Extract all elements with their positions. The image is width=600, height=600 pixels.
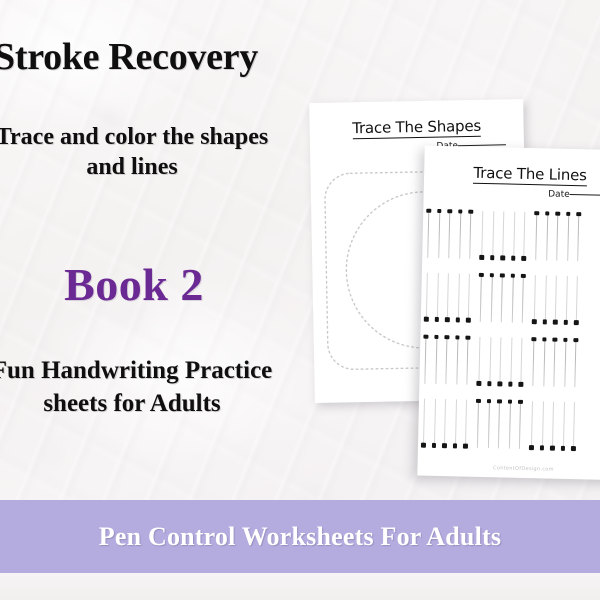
- trace-line: [508, 400, 510, 448]
- lines-tracing-area: [418, 205, 600, 465]
- trace-start-dot: [455, 335, 459, 339]
- trace-start-dot: [563, 337, 567, 341]
- trace-start-dot: [550, 446, 554, 450]
- trace-line: [445, 336, 447, 384]
- trace-start-dot: [519, 382, 523, 386]
- trace-line: [531, 401, 533, 449]
- trace-start-dot: [543, 320, 547, 324]
- worksheet-title: Trace The Lines: [473, 164, 587, 187]
- poster-description: Fun Handwriting Practice sheets for Adul…: [0, 355, 282, 420]
- trace-start-dot: [421, 443, 425, 447]
- trace-line: [469, 210, 471, 258]
- trace-start-dot: [553, 320, 557, 324]
- trace-line: [487, 400, 489, 448]
- line-trace-row: [418, 394, 600, 456]
- trace-line: [480, 273, 482, 321]
- trace-line: [454, 399, 456, 447]
- trace-start-dot: [477, 381, 481, 385]
- trace-line: [519, 400, 521, 448]
- trace-start-dot: [437, 208, 441, 212]
- trace-line: [541, 401, 543, 449]
- trace-start-dot: [521, 273, 525, 277]
- trace-start-dot: [445, 317, 449, 321]
- line-trace-row: [421, 268, 600, 330]
- worksheet-title: Trace The Shapes: [352, 117, 481, 139]
- trace-start-dot: [532, 319, 536, 323]
- trace-start-dot: [434, 334, 438, 338]
- trace-start-dot: [501, 256, 505, 260]
- trace-line: [456, 336, 458, 384]
- trace-line: [556, 212, 558, 260]
- trace-line: [555, 275, 557, 323]
- trace-line: [468, 273, 470, 321]
- trace-line: [567, 212, 569, 260]
- trace-start-dot: [469, 209, 473, 213]
- line-trace-group: [477, 399, 521, 448]
- trace-start-dot: [442, 443, 446, 447]
- trace-line: [448, 210, 450, 258]
- trace-start-dot: [424, 334, 428, 338]
- trace-start-dot: [571, 446, 575, 450]
- trace-line: [433, 398, 435, 446]
- line-trace-group: [480, 273, 524, 322]
- trace-line: [426, 272, 428, 320]
- line-trace-group: [481, 210, 525, 259]
- worksheet-trace-the-lines: Trace The Lines Date ContentOfDesign.com: [417, 146, 600, 481]
- line-trace-group: [535, 212, 579, 261]
- trace-line: [502, 211, 504, 259]
- trace-line: [489, 337, 491, 385]
- trace-line: [435, 335, 437, 383]
- poster-text-column: Stroke Recovery Trace and color the shap…: [0, 0, 300, 500]
- banner-bottom-strip: [0, 573, 600, 600]
- trace-start-dot: [490, 255, 494, 259]
- trace-line: [498, 400, 500, 448]
- trace-start-dot: [487, 381, 491, 385]
- trace-line: [564, 338, 566, 386]
- trace-start-dot: [542, 337, 546, 341]
- trace-line: [553, 338, 555, 386]
- trace-line: [447, 273, 449, 321]
- trace-line: [532, 338, 534, 386]
- trace-line: [492, 211, 494, 259]
- trace-start-dot: [435, 317, 439, 321]
- trace-start-dot: [564, 320, 568, 324]
- trace-start-dot: [432, 443, 436, 447]
- trace-start-dot: [535, 211, 539, 215]
- trace-start-dot: [480, 255, 484, 259]
- trace-start-dot: [508, 382, 512, 386]
- trace-start-dot: [511, 256, 515, 260]
- trace-start-dot: [566, 211, 570, 215]
- date-label: Date: [548, 189, 570, 199]
- trace-start-dot: [540, 446, 544, 450]
- trace-line: [490, 274, 492, 322]
- trace-line: [466, 336, 468, 384]
- trace-start-dot: [427, 208, 431, 212]
- trace-line: [436, 272, 438, 320]
- trace-start-dot: [511, 273, 515, 277]
- trace-line: [499, 337, 501, 385]
- banner-label: Pen Control Worksheets For Adults: [99, 522, 501, 552]
- trace-line: [552, 401, 554, 449]
- lines-date-field: Date: [424, 187, 600, 202]
- trace-start-dot: [522, 256, 526, 260]
- trace-start-dot: [448, 209, 452, 213]
- trace-start-dot: [556, 211, 560, 215]
- trace-start-dot: [574, 338, 578, 342]
- line-trace-group: [531, 401, 575, 450]
- trace-line: [520, 337, 522, 385]
- trace-start-dot: [458, 209, 462, 213]
- trace-start-dot: [466, 318, 470, 322]
- trace-start-dot: [456, 318, 460, 322]
- trace-line: [478, 336, 480, 384]
- book-number-label: Book 2: [0, 258, 284, 311]
- trace-line: [534, 275, 536, 323]
- trace-start-dot: [487, 399, 491, 403]
- trace-start-dot: [553, 337, 557, 341]
- trace-line: [577, 213, 579, 261]
- line-trace-group: [478, 336, 522, 385]
- trace-line: [424, 335, 426, 383]
- line-trace-group: [424, 335, 468, 384]
- line-trace-group: [427, 209, 471, 258]
- trace-start-dot: [508, 399, 512, 403]
- trace-line: [481, 210, 483, 258]
- trace-start-dot: [577, 212, 581, 216]
- trace-line: [513, 211, 515, 259]
- trace-start-dot: [479, 272, 483, 276]
- trace-line: [546, 212, 548, 260]
- trace-line: [511, 274, 513, 322]
- line-trace-group: [532, 338, 576, 387]
- trace-line: [576, 276, 578, 324]
- trace-start-dot: [463, 444, 467, 448]
- lines-title-wrap: Trace The Lines: [424, 146, 600, 188]
- trace-line: [562, 401, 564, 449]
- trace-line: [501, 274, 503, 322]
- line-trace-row: [419, 331, 600, 393]
- trace-start-dot: [498, 382, 502, 386]
- trace-start-dot: [476, 398, 480, 402]
- trace-line: [543, 338, 545, 386]
- trace-line: [522, 274, 524, 322]
- bottom-banner: Pen Control Worksheets For Adults: [0, 500, 600, 573]
- trace-start-dot: [445, 335, 449, 339]
- trace-start-dot: [490, 273, 494, 277]
- trace-start-dot: [518, 399, 522, 403]
- trace-line: [423, 398, 425, 446]
- trace-start-dot: [466, 335, 470, 339]
- line-trace-group: [534, 275, 578, 324]
- trace-start-dot: [545, 211, 549, 215]
- poster-canvas: Stroke Recovery Trace and color the shap…: [0, 0, 600, 600]
- shapes-title-wrap: Trace The Shapes: [309, 99, 524, 140]
- trace-start-dot: [424, 317, 428, 321]
- line-trace-row: [422, 205, 600, 267]
- trace-line: [427, 209, 429, 257]
- trace-start-dot: [453, 444, 457, 448]
- trace-line: [438, 209, 440, 257]
- trace-start-dot: [561, 446, 565, 450]
- line-trace-group: [426, 272, 470, 321]
- trace-line: [523, 211, 525, 259]
- poster-subtitle: Trace and color the shapes and lines: [0, 122, 282, 182]
- line-trace-group: [423, 398, 467, 447]
- trace-line: [535, 212, 537, 260]
- trace-start-dot: [500, 273, 504, 277]
- worksheet-watermark: ContentOfDesign.com: [417, 464, 600, 475]
- date-blank-rule: [570, 194, 600, 196]
- trace-start-dot: [529, 445, 533, 449]
- trace-line: [459, 210, 461, 258]
- page-title: Stroke Recovery: [0, 38, 276, 78]
- trace-line: [444, 399, 446, 447]
- trace-line: [465, 399, 467, 447]
- trace-line: [544, 275, 546, 323]
- trace-start-dot: [574, 320, 578, 324]
- trace-line: [573, 402, 575, 450]
- trace-line: [477, 399, 479, 447]
- trace-line: [565, 275, 567, 323]
- trace-start-dot: [497, 399, 501, 403]
- trace-start-dot: [532, 337, 536, 341]
- trace-line: [510, 337, 512, 385]
- trace-line: [457, 273, 459, 321]
- trace-line: [574, 339, 576, 387]
